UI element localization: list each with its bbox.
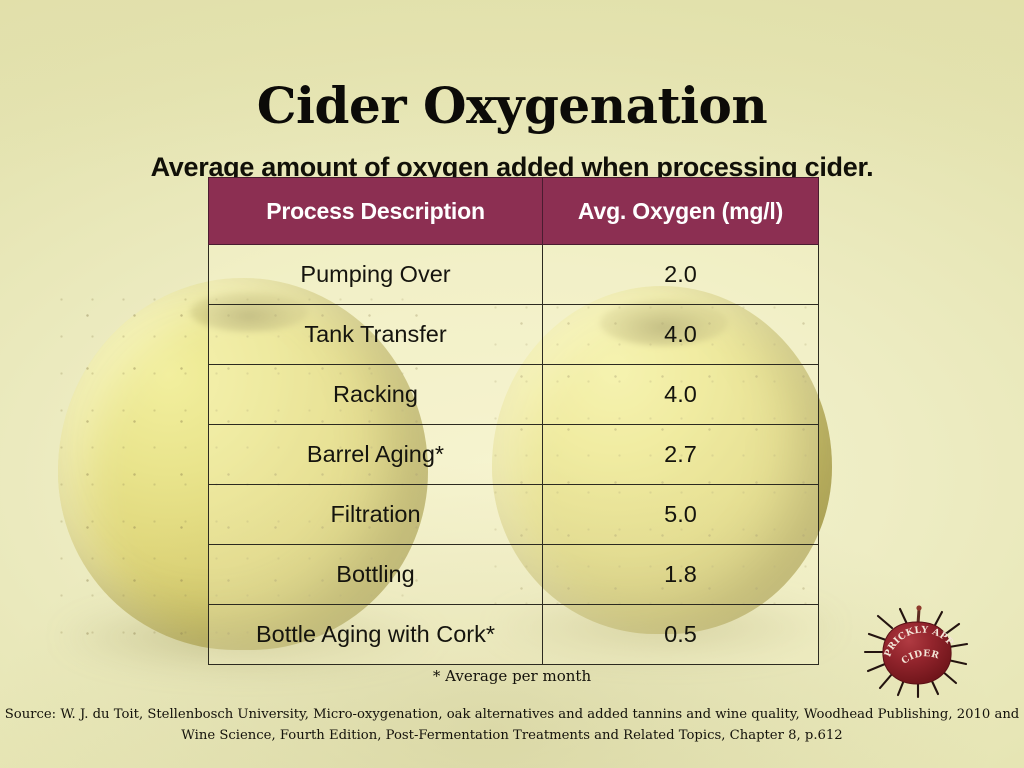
table-row: Bottle Aging with Cork* 0.5 <box>209 605 819 665</box>
cell-oxygen: 4.0 <box>543 365 819 425</box>
table-row: Bottling 1.8 <box>209 545 819 605</box>
cell-oxygen: 1.8 <box>543 545 819 605</box>
prickly-apple-cider-logo: PRICKLY APPLE CIDER <box>862 600 972 700</box>
slide-canvas: Cider Oxygenation Average amount of oxyg… <box>0 0 1024 768</box>
cell-process: Barrel Aging* <box>209 425 543 485</box>
cell-process: Pumping Over <box>209 245 543 305</box>
table-row: Barrel Aging* 2.7 <box>209 425 819 485</box>
cell-process: Tank Transfer <box>209 305 543 365</box>
cell-oxygen: 2.7 <box>543 425 819 485</box>
cell-oxygen: 2.0 <box>543 245 819 305</box>
page-title: Cider Oxygenation <box>0 80 1024 133</box>
cell-process: Racking <box>209 365 543 425</box>
prickly-apple-icon: PRICKLY APPLE CIDER <box>862 600 972 700</box>
source-line-1: Source: W. J. du Toit, Stellenbosch Univ… <box>0 704 1024 725</box>
table-row: Pumping Over 2.0 <box>209 245 819 305</box>
table-row: Racking 4.0 <box>209 365 819 425</box>
cell-oxygen: 0.5 <box>543 605 819 665</box>
column-header-process: Process Description <box>209 178 543 245</box>
cell-process: Bottling <box>209 545 543 605</box>
table-header-row: Process Description Avg. Oxygen (mg/l) <box>209 178 819 245</box>
column-header-oxygen: Avg. Oxygen (mg/l) <box>543 178 819 245</box>
table-header: Process Description Avg. Oxygen (mg/l) <box>209 178 819 245</box>
oxygenation-table: Process Description Avg. Oxygen (mg/l) P… <box>208 177 818 665</box>
table-row: Filtration 5.0 <box>209 485 819 545</box>
source-line-2: Wine Science, Fourth Edition, Post-Ferme… <box>0 725 1024 746</box>
data-table: Process Description Avg. Oxygen (mg/l) P… <box>208 177 819 665</box>
cell-oxygen: 4.0 <box>543 305 819 365</box>
cell-process: Bottle Aging with Cork* <box>209 605 543 665</box>
cell-oxygen: 5.0 <box>543 485 819 545</box>
cell-process: Filtration <box>209 485 543 545</box>
source-citation: Source: W. J. du Toit, Stellenbosch Univ… <box>0 704 1024 747</box>
table-body: Pumping Over 2.0 Tank Transfer 4.0 Racki… <box>209 245 819 665</box>
stem-tip-icon <box>916 605 921 610</box>
table-row: Tank Transfer 4.0 <box>209 305 819 365</box>
